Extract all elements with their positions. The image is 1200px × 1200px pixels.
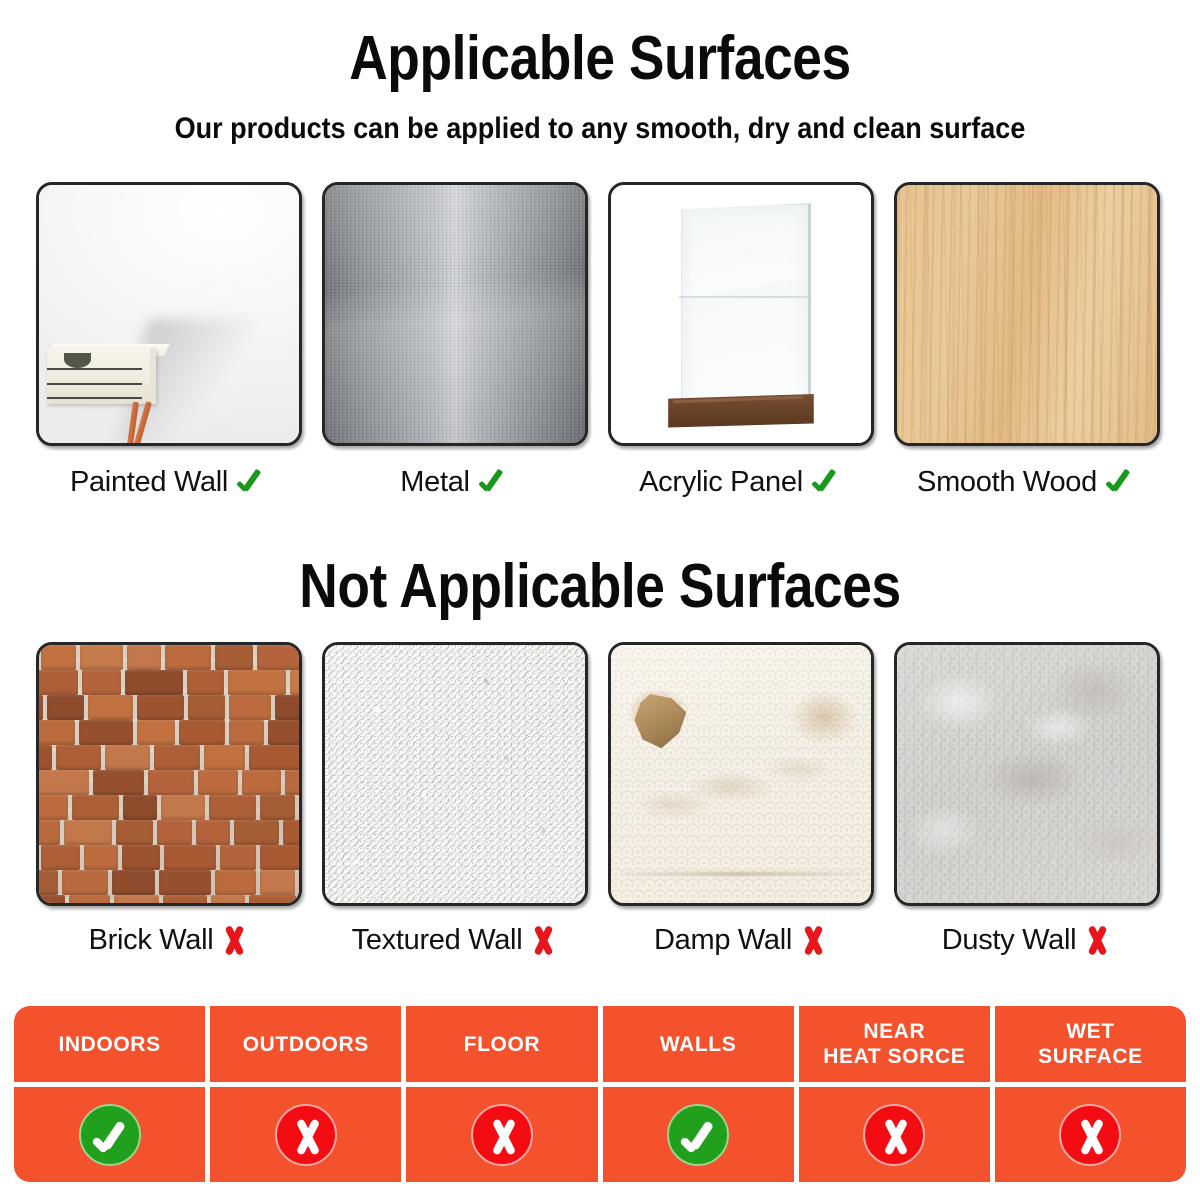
brick-pattern <box>39 645 299 903</box>
brick-unit <box>165 645 211 670</box>
brick-unit <box>123 795 157 820</box>
caption-smooth-wood: Smooth Wood <box>894 459 1160 505</box>
usage-header-cell: NEARHEAT SORCE <box>799 1006 990 1082</box>
brick-row <box>36 820 302 845</box>
caption-acrylic-panel: Acrylic Panel <box>608 459 874 505</box>
acrylic-seam <box>679 296 812 298</box>
brick-unit <box>229 695 271 720</box>
brick-unit <box>62 870 108 895</box>
brick-unit <box>220 845 256 870</box>
usage-value-cell <box>210 1087 401 1182</box>
brick-unit <box>125 670 183 695</box>
surface-card-metal <box>322 182 588 446</box>
acrylic-sheet <box>679 203 812 415</box>
brick-unit <box>300 895 302 906</box>
damp-wall-image <box>611 645 871 903</box>
cross-icon <box>528 923 558 957</box>
brick-unit <box>105 745 150 770</box>
brick-unit <box>41 845 80 870</box>
damp-streak <box>621 872 860 876</box>
usage-value-cell <box>995 1087 1186 1182</box>
usage-header-cell: INDOORS <box>14 1006 205 1082</box>
painted-wall-image <box>39 185 299 443</box>
brick-row <box>36 720 302 745</box>
caption-brick-wall: Brick Wall <box>36 917 302 963</box>
cross-badge-icon <box>863 1104 925 1166</box>
brick-unit <box>122 845 160 870</box>
brick-unit <box>69 895 110 906</box>
brick-unit <box>36 745 52 770</box>
caption-label: Dusty Wall <box>942 924 1077 957</box>
peeling-paint-patch <box>634 694 686 748</box>
brick-unit <box>204 745 245 770</box>
brick-unit <box>114 895 158 906</box>
usage-header-cell: FLOOR <box>406 1006 597 1082</box>
check-icon <box>234 465 268 499</box>
usage-column-wet-surface: WETSURFACE <box>995 1006 1186 1182</box>
surface-card-textured-wall <box>322 642 588 906</box>
brick-row <box>36 770 302 795</box>
metal-sheen-overlay <box>325 185 585 443</box>
brick-unit <box>215 870 256 895</box>
caption-painted-wall: Painted Wall <box>36 459 302 505</box>
usage-value-cell <box>603 1087 794 1182</box>
brick-unit <box>257 645 302 670</box>
brick-unit <box>112 870 155 895</box>
check-icon <box>1103 465 1137 499</box>
brick-row <box>36 845 302 870</box>
brick-unit <box>290 670 302 695</box>
wood-grain-image <box>897 185 1157 443</box>
brick-unit <box>84 845 118 870</box>
brick-unit <box>242 770 281 795</box>
brick-unit <box>82 670 121 695</box>
caption-label: Acrylic Panel <box>639 466 803 499</box>
brick-unit <box>72 795 119 820</box>
caption-label: Smooth Wood <box>917 466 1097 499</box>
usage-suitability-table: INDOORSOUTDOORSFLOORWALLSNEARHEAT SORCEW… <box>14 1006 1186 1182</box>
cross-badge-icon <box>471 1104 533 1166</box>
brick-unit <box>154 745 200 770</box>
header-line: NEAR <box>863 1020 925 1043</box>
brick-unit <box>285 770 302 795</box>
brick-unit <box>164 845 216 870</box>
header-text: WETSURFACE <box>1038 1019 1143 1069</box>
brick-unit <box>80 645 123 670</box>
brick-unit <box>283 820 302 845</box>
brick-unit <box>188 695 225 720</box>
brick-unit <box>299 795 302 820</box>
caption-label: Brick Wall <box>89 924 214 957</box>
brick-unit <box>36 870 58 895</box>
brick-row <box>36 695 302 720</box>
surface-card-damp-wall <box>608 642 874 906</box>
usage-column-near-heat-sorce: NEARHEAT SORCE <box>799 1006 990 1182</box>
brick-unit <box>228 670 287 695</box>
brick-unit <box>299 870 302 895</box>
surface-card-acrylic-panel <box>608 182 874 446</box>
brick-unit <box>64 820 112 845</box>
brick-unit <box>268 720 302 745</box>
brick-unit <box>56 745 101 770</box>
brick-unit <box>36 820 60 845</box>
brick-unit <box>275 695 302 720</box>
brick-unit <box>209 795 256 820</box>
brick-unit <box>196 820 230 845</box>
brick-unit <box>229 720 264 745</box>
brick-unit <box>215 645 253 670</box>
brick-unit <box>36 770 89 795</box>
brick-unit <box>260 795 295 820</box>
cross-badge-icon <box>1059 1104 1121 1166</box>
textured-wall-image <box>325 645 585 903</box>
infographic-page: Applicable Surfaces Our products can be … <box>0 0 1200 1200</box>
usage-column-walls: WALLS <box>603 1006 794 1182</box>
cross-badge-icon <box>275 1104 337 1166</box>
brick-unit <box>161 795 205 820</box>
brick-unit <box>127 645 161 670</box>
caption-textured-wall: Textured Wall <box>322 917 588 963</box>
brick-unit <box>36 645 37 670</box>
brick-unit <box>93 770 144 795</box>
brick-unit <box>148 770 194 795</box>
brick-unit <box>36 795 68 820</box>
brick-unit <box>249 745 302 770</box>
brick-row <box>36 795 302 820</box>
check-icon <box>476 465 510 499</box>
brick-unit <box>137 695 184 720</box>
drawer-line <box>47 368 142 370</box>
surface-card-dusty-wall <box>894 642 1160 906</box>
brick-unit <box>198 770 238 795</box>
drawer-knob <box>64 353 91 368</box>
brushed-metal-image <box>325 185 585 443</box>
cross-icon <box>798 923 828 957</box>
drawer-line <box>47 383 142 385</box>
brick-unit <box>157 820 192 845</box>
brick-row <box>36 870 302 895</box>
caption-label: Damp Wall <box>654 924 792 957</box>
check-icon <box>809 465 843 499</box>
caption-damp-wall: Damp Wall <box>608 917 874 963</box>
brick-row <box>36 745 302 770</box>
usage-header-cell: WALLS <box>603 1006 794 1082</box>
usage-value-cell <box>406 1087 597 1182</box>
surface-card-painted-wall <box>36 182 302 446</box>
brick-unit <box>36 845 37 870</box>
brick-unit <box>36 895 65 906</box>
brick-unit <box>249 895 296 906</box>
usage-header-cell: WETSURFACE <box>995 1006 1186 1082</box>
dusty-wall-image <box>897 645 1157 903</box>
brick-unit <box>163 895 207 906</box>
drawer-line <box>47 397 142 399</box>
brick-row <box>36 645 302 670</box>
brick-unit <box>159 870 212 895</box>
usage-column-indoors: INDOORS <box>14 1006 205 1182</box>
usage-value-cell <box>14 1087 205 1182</box>
cross-icon <box>219 923 249 957</box>
brick-unit <box>41 645 76 670</box>
console-table-body <box>47 348 156 405</box>
cross-icon <box>1082 923 1112 957</box>
header-line: SURFACE <box>1038 1045 1143 1068</box>
brick-row <box>36 895 302 906</box>
brick-row <box>36 670 302 695</box>
caption-label: Painted Wall <box>70 466 228 499</box>
brick-unit <box>211 895 245 906</box>
brick-unit <box>260 845 302 870</box>
check-badge-icon <box>79 1104 141 1166</box>
acrylic-panel-image <box>611 185 871 443</box>
brick-unit <box>79 720 133 745</box>
header-text: NEARHEAT SORCE <box>823 1019 965 1069</box>
brick-unit <box>47 695 84 720</box>
brick-wall-image <box>39 645 299 903</box>
usage-column-floor: FLOOR <box>406 1006 597 1182</box>
surface-card-brick-wall <box>36 642 302 906</box>
surface-card-smooth-wood <box>894 182 1160 446</box>
caption-label: Textured Wall <box>352 924 523 957</box>
brick-unit <box>234 820 279 845</box>
caption-metal: Metal <box>322 459 588 505</box>
subtitle-text: Our products can be applied to any smoot… <box>60 112 1140 146</box>
brick-unit <box>36 695 43 720</box>
brick-unit <box>36 720 75 745</box>
brick-unit <box>116 820 153 845</box>
usage-column-outdoors: OUTDOORS <box>210 1006 401 1182</box>
brick-unit <box>36 670 78 695</box>
caption-dusty-wall: Dusty Wall <box>894 917 1160 963</box>
brick-unit <box>179 720 225 745</box>
page-title-applicable: Applicable Surfaces <box>84 24 1116 94</box>
brick-unit <box>88 695 133 720</box>
caption-label: Metal <box>400 466 469 499</box>
page-title-not-applicable: Not Applicable Surfaces <box>84 552 1116 622</box>
header-line: WET <box>1066 1020 1114 1043</box>
brick-unit <box>260 870 296 895</box>
usage-value-cell <box>799 1087 990 1182</box>
check-badge-icon <box>667 1104 729 1166</box>
usage-header-cell: OUTDOORS <box>210 1006 401 1082</box>
header-line: HEAT SORCE <box>823 1045 965 1068</box>
brick-unit <box>187 670 224 695</box>
brick-unit <box>137 720 175 745</box>
